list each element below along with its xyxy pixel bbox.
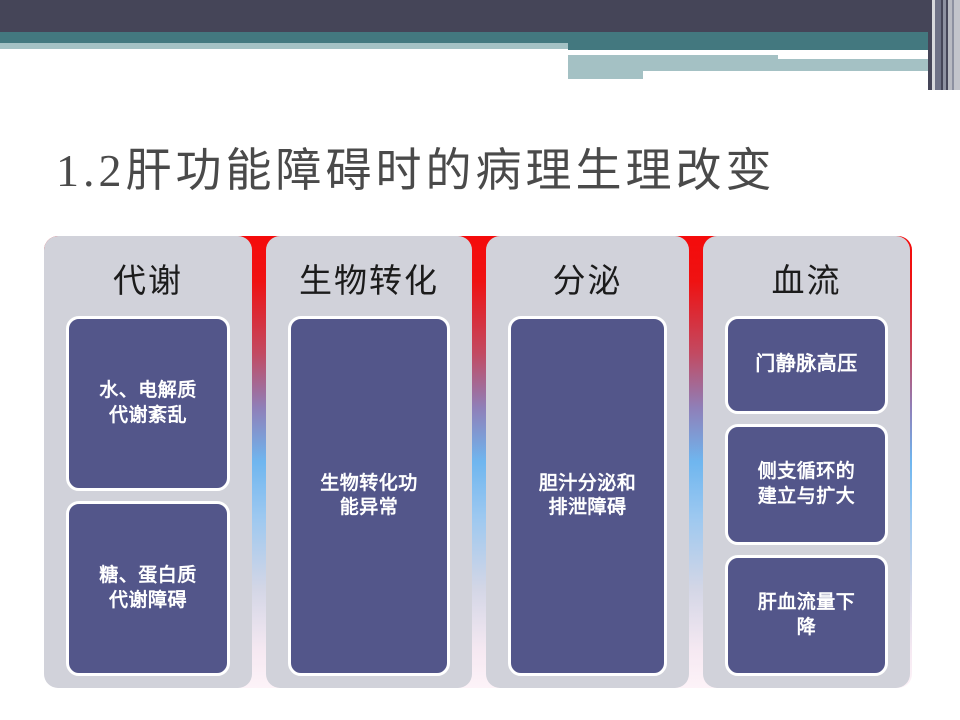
column-separator-1: [252, 236, 266, 688]
diagram-node[interactable]: 门静脉高压: [725, 316, 888, 414]
banner-navy-band: [0, 0, 960, 32]
column-separator-3: [689, 236, 703, 688]
column-node-list: 水、电解质代谢紊乱糖、蛋白质代谢障碍: [52, 316, 244, 676]
banner-teal-right-block: [568, 32, 960, 50]
diagram-column-3[interactable]: 血流门静脉高压侧支循环的建立与扩大肝血流量下降: [703, 236, 910, 688]
column-separator-2: [472, 236, 486, 688]
diagram-container: 代谢水、电解质代谢紊乱糖、蛋白质代谢障碍生物转化生物转化功能异常分泌胆汁分泌和排…: [44, 236, 912, 688]
diagram-column-0[interactable]: 代谢水、电解质代谢紊乱糖、蛋白质代谢障碍: [44, 236, 252, 688]
banner-vertical-stripe-8: [954, 0, 960, 90]
slide-root: 1.2肝功能障碍时的病理生理改变 代谢水、电解质代谢紊乱糖、蛋白质代谢障碍生物转…: [0, 0, 960, 720]
slide-banner: [0, 0, 960, 90]
diagram-column-1[interactable]: 生物转化生物转化功能异常: [266, 236, 472, 688]
diagram-node-label: 糖、蛋白质代谢障碍: [99, 564, 197, 613]
diagram-node[interactable]: 水、电解质代谢紊乱: [66, 316, 230, 491]
diagram-column-2[interactable]: 分泌胆汁分泌和排泄障碍: [486, 236, 689, 688]
diagram-node[interactable]: 糖、蛋白质代谢障碍: [66, 501, 230, 676]
diagram-node[interactable]: 肝血流量下降: [725, 555, 888, 676]
diagram-node[interactable]: 侧支循环的建立与扩大: [725, 424, 888, 545]
column-node-list: 门静脉高压侧支循环的建立与扩大肝血流量下降: [711, 316, 902, 676]
column-header: 血流: [772, 264, 842, 300]
diagram-node-label: 肝血流量下降: [758, 591, 856, 640]
column-header: 生物转化: [299, 264, 439, 300]
banner-white-notch: [778, 55, 928, 59]
diagram-node-label: 水、电解质代谢紊乱: [99, 379, 197, 428]
column-header: 分泌: [553, 264, 623, 300]
diagram-node-label: 侧支循环的建立与扩大: [758, 460, 856, 509]
diagram-node-label: 胆汁分泌和排泄障碍: [539, 472, 637, 521]
diagram-node-label: 门静脉高压: [755, 352, 858, 378]
diagram-node-label: 生物转化功能异常: [320, 472, 418, 521]
diagram-node[interactable]: 生物转化功能异常: [288, 316, 450, 676]
banner-white-stripe-4: [643, 71, 928, 75]
diagram-columns: 代谢水、电解质代谢紊乱糖、蛋白质代谢障碍生物转化生物转化功能异常分泌胆汁分泌和排…: [44, 236, 912, 688]
column-header: 代谢: [113, 264, 183, 300]
banner-pale-stripe-3: [568, 61, 643, 79]
column-node-list: 生物转化功能异常: [274, 316, 464, 676]
page-title: 1.2肝功能障碍时的病理生理改变: [56, 140, 916, 202]
banner-vertical-stripes: [928, 0, 960, 90]
diagram-node[interactable]: 胆汁分泌和排泄障碍: [508, 316, 667, 676]
column-node-list: 胆汁分泌和排泄障碍: [494, 316, 681, 676]
